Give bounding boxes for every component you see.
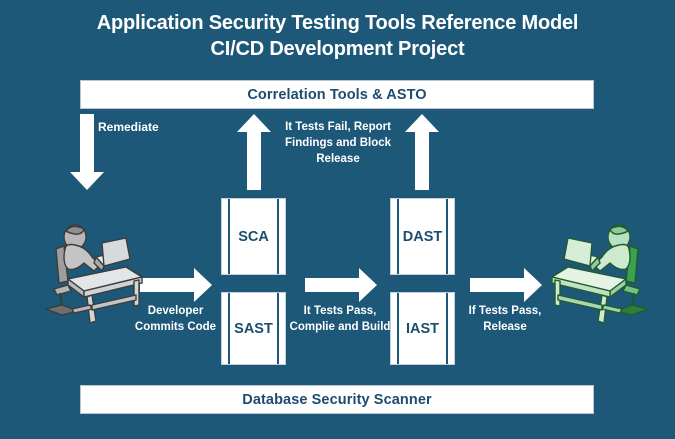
arrow-up-icon [405, 114, 439, 190]
arrow-up-icon [237, 114, 271, 190]
arrow-right-icon [305, 268, 377, 302]
tool-label-sca: SCA [238, 229, 269, 245]
arrow-head [405, 114, 439, 132]
database-security-scanner-bar: Database Security Scanner [80, 385, 594, 414]
arrow-head [524, 268, 542, 302]
caption-tests-fail: It Tests Fail, Report Findings and Block… [283, 119, 393, 167]
caption-tests-pass-release: If Tests Pass, Release [455, 303, 555, 335]
tool-box-sast: SAST [221, 292, 286, 365]
diagram-canvas: Application Security Testing Tools Refer… [0, 0, 675, 439]
arrow-shaft [140, 278, 196, 292]
user-at-desk-figure [548, 213, 656, 323]
correlation-tools-bar: Correlation Tools & ASTO [80, 80, 594, 109]
correlation-tools-label: Correlation Tools & ASTO [247, 87, 426, 103]
tool-box-dast: DAST [390, 198, 455, 275]
arrow-right-icon [470, 268, 542, 302]
arrow-head [194, 268, 212, 302]
tool-label-sast: SAST [234, 321, 273, 337]
developer-at-desk-figure [38, 213, 146, 323]
tool-box-iast: IAST [390, 292, 455, 365]
arrow-head [237, 114, 271, 132]
title-line-1: Application Security Testing Tools Refer… [0, 10, 675, 36]
arrow-shaft [415, 132, 429, 190]
title-line-2: CI/CD Development Project [0, 36, 675, 62]
caption-tests-pass-build: It Tests Pass, Complie and Build [288, 303, 392, 335]
arrow-head [70, 172, 104, 190]
tool-label-dast: DAST [403, 229, 442, 245]
arrow-shaft [470, 278, 526, 292]
database-security-scanner-label: Database Security Scanner [242, 392, 431, 408]
tool-box-sca: SCA [221, 198, 286, 275]
arrow-shaft [80, 114, 94, 172]
caption-remediate: Remediate [98, 119, 159, 135]
arrow-shaft [247, 132, 261, 190]
page-title: Application Security Testing Tools Refer… [0, 10, 675, 62]
arrow-shaft [305, 278, 361, 292]
arrow-right-icon [140, 268, 212, 302]
arrow-head [359, 268, 377, 302]
tool-label-iast: IAST [406, 321, 439, 337]
